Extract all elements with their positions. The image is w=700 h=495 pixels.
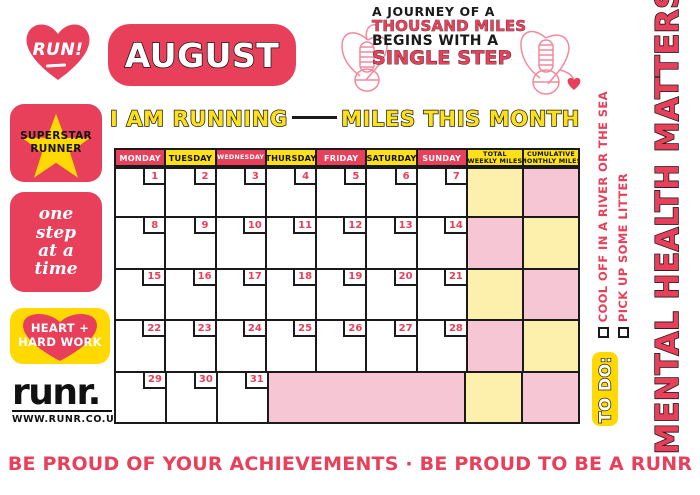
miles-goal-line: I AM RUNNING MILES THIS MONTH [110,104,580,134]
calendar-day-cell[interactable]: 8 [114,216,166,269]
motivational-quote: A JOURNEY OF A THOUSAND MILES BEGINS WIT… [372,6,522,68]
calendar-day-number: 8 [143,218,164,234]
calendar-day-header-saturday: SATURDAY [365,148,417,167]
monthly-miles-cell[interactable] [522,167,580,218]
one-step-line-1: one [34,205,77,223]
todo-item-label: COOL OFF IN A RIVER OR THE SEA [596,91,610,322]
badge-heart-hard-work: HEART + HARD WORK [10,308,110,364]
weekly-miles-cell[interactable] [464,371,523,424]
weekly-miles-cell[interactable] [466,319,524,372]
calendar-day-cell[interactable]: 3 [215,167,267,218]
calendar-header-row: MONDAYTUESDAYWEDNESDAYTHURSDAYFRIDAYSATU… [114,148,580,167]
checkbox-icon[interactable] [618,327,629,338]
badge-one-step-text: one step at a time [34,205,77,278]
calendar-day-cell[interactable]: 30 [165,371,218,424]
calendar-day-cell[interactable]: 14 [416,216,468,269]
one-step-line-3: at a [34,242,77,260]
calendar-day-number: 21 [444,270,466,286]
quote-line-2: THOUSAND MILES [372,19,522,34]
calendar-day-cell[interactable]: 21 [416,268,468,321]
calendar-day-cell[interactable]: 22 [114,319,166,372]
calendar-day-number: 24 [243,321,265,337]
quote-line-4: SINGLE STEP [372,49,522,69]
calendar-day-number: 22 [142,321,164,337]
calendar-day-number: 13 [394,218,416,234]
miles-goal-input-blank[interactable] [292,116,337,119]
calendar-day-cell[interactable]: 24 [215,319,267,372]
weekly-miles-cell[interactable] [466,216,524,269]
calendar-grid: MONDAYTUESDAYWEDNESDAYTHURSDAYFRIDAYSATU… [114,148,580,424]
calendar-day-number: 14 [444,218,466,234]
todo-item-label: PICK UP SOME LITTER [616,173,630,322]
badge-superstar-runner: SUPERSTAR RUNNER [10,104,102,182]
poster-canvas: RUN! SUPERSTAR RUNNER one step at a time… [0,0,700,495]
calendar-day-number: 17 [243,270,265,286]
footer-text: BE PROUD OF YOUR ACHIEVEMENTS · BE PROUD… [8,453,692,475]
calendar-day-number: 2 [194,169,215,185]
calendar-day-cell[interactable]: 4 [265,167,317,218]
runr-logo-block: runr. WWW.RUNR.CO.UK [12,376,116,425]
calendar-body: 1234567891011121314151617181920212223242… [114,167,580,424]
one-step-line-2: step [34,224,77,242]
calendar-day-cell[interactable]: 2 [164,167,216,218]
miles-goal-prefix: I AM RUNNING [110,107,288,131]
calendar-header-weekly-total: TOTALWEEKLY MILES [466,148,524,167]
calendar-day-number: 20 [394,270,416,286]
calendar-day-header-tuesday: TUESDAY [164,148,216,167]
calendar-day-header-monday: MONDAY [114,148,166,167]
calendar-day-number: 7 [445,169,466,185]
calendar-week-row: 293031 [114,373,580,424]
monthly-miles-cell[interactable] [522,268,580,321]
calendar-day-cell[interactable]: 9 [164,216,216,269]
run-badge-label: RUN! [22,40,94,60]
calendar-day-cell[interactable]: 12 [315,216,367,269]
calendar-week-row: 1234567 [114,167,580,218]
calendar-day-cell[interactable]: 11 [265,216,317,269]
todo-title: TO DO: [596,356,615,422]
calendar-day-cell[interactable]: 31 [216,371,269,424]
footer-banner: BE PROUD OF YOUR ACHIEVEMENTS · BE PROUD… [0,453,700,475]
calendar-day-number: 19 [343,270,365,286]
heart-line-2: HARD WORK [18,336,102,350]
todo-title-badge: TO DO: [592,352,618,426]
calendar-day-cell[interactable]: 23 [164,319,216,372]
monthly-miles-cell[interactable] [522,216,580,269]
calendar-day-cell[interactable]: 5 [315,167,367,218]
weekly-miles-cell[interactable] [466,167,524,218]
monthly-miles-cell[interactable] [522,319,580,372]
calendar-blocked-cells [267,371,467,424]
one-step-line-4: time [34,260,77,278]
calendar-day-cell[interactable]: 1 [114,167,166,218]
calendar-day-number: 26 [343,321,365,337]
month-title-pill: AUGUST [108,24,296,86]
calendar-day-number: 1 [143,169,164,185]
badge-superstar-text: SUPERSTAR RUNNER [20,130,92,156]
superstar-line-1: SUPERSTAR [20,130,92,143]
monthly-miles-cell[interactable] [521,371,580,424]
checkbox-icon[interactable] [598,327,609,338]
calendar-day-cell[interactable]: 19 [315,268,367,321]
badge-heart-text: HEART + HARD WORK [18,322,102,350]
calendar-day-header-sunday: SUNDAY [416,148,468,167]
calendar-day-number: 5 [344,169,365,185]
todo-item[interactable]: COOL OFF IN A RIVER OR THE SEA [596,18,610,338]
calendar-header-monthly-total: CUMULATIVEMONTHLY MILES [522,148,580,167]
calendar-day-header-wednesday: WEDNESDAY [215,148,267,167]
calendar-day-number: 31 [245,373,267,389]
calendar-day-cell[interactable]: 29 [114,371,167,424]
todo-item[interactable]: PICK UP SOME LITTER [616,108,630,338]
calendar-week-row: 891011121314 [114,218,580,269]
calendar-day-cell[interactable]: 16 [164,268,216,321]
calendar-day-cell[interactable]: 13 [365,216,417,269]
calendar-day-cell[interactable]: 25 [265,319,317,372]
calendar-day-number: 4 [294,169,315,185]
calendar-week-row: 15161718192021 [114,270,580,321]
total-header-line-2: MONTHLY MILES [522,158,580,165]
calendar-day-cell[interactable]: 18 [265,268,317,321]
calendar-day-number: 12 [343,218,365,234]
badge-one-step-at-a-time: one step at a time [10,192,102,292]
calendar-day-cell[interactable]: 28 [416,319,468,372]
calendar-day-number: 10 [243,218,265,234]
mental-health-slogan-text: MENTAL HEALTH MATTERS [650,0,686,454]
run-heart-badge: RUN! [22,20,94,82]
calendar-week-row: 22232425262728 [114,321,580,372]
calendar-day-number: 29 [143,373,165,389]
page-title: AUGUST [125,36,279,75]
calendar-day-header-thursday: THURSDAY [265,148,317,167]
calendar-day-cell[interactable]: 15 [114,268,166,321]
calendar-day-number: 3 [244,169,265,185]
calendar-day-number: 6 [395,169,416,185]
calendar-day-number: 28 [444,321,466,337]
calendar-day-header-friday: FRIDAY [315,148,367,167]
calendar-day-cell[interactable]: 17 [215,268,267,321]
calendar-day-cell[interactable]: 6 [365,167,417,218]
calendar-day-cell[interactable]: 27 [365,319,417,372]
total-header-line-2: WEEKLY MILES [467,158,522,165]
calendar-day-number: 27 [394,321,416,337]
calendar-day-number: 9 [194,218,215,234]
calendar-day-number: 30 [194,373,216,389]
calendar-day-number: 23 [193,321,215,337]
calendar-day-number: 18 [293,270,315,286]
calendar-day-number: 25 [293,321,315,337]
calendar-day-number: 15 [142,270,164,286]
calendar-day-cell[interactable]: 10 [215,216,267,269]
heart-line-1: HEART + [18,322,102,336]
superstar-line-2: RUNNER [20,143,92,156]
calendar-day-cell[interactable]: 7 [416,167,468,218]
calendar-day-number: 16 [193,270,215,286]
runr-logo: runr. [12,376,116,409]
calendar-day-cell[interactable]: 20 [365,268,417,321]
weekly-miles-cell[interactable] [466,268,524,321]
mental-health-slogan: MENTAL HEALTH MATTERS [640,0,696,440]
calendar-day-cell[interactable]: 26 [315,319,367,372]
calendar-day-number: 11 [293,218,315,234]
miles-goal-suffix: MILES THIS MONTH [341,107,580,131]
